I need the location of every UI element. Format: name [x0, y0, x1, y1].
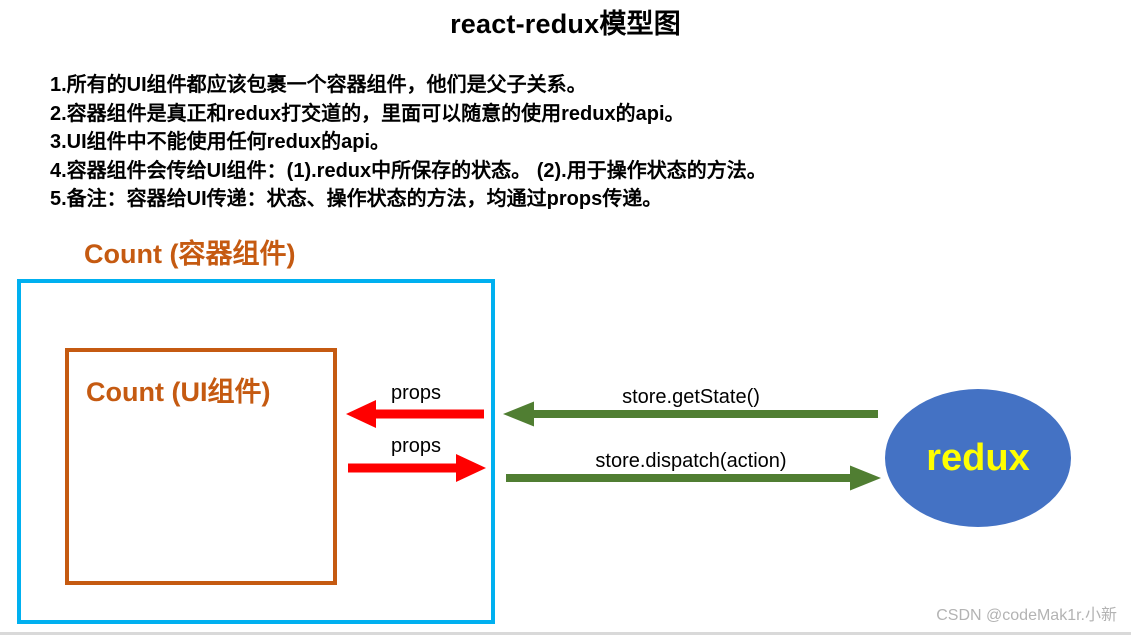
redux-store-ellipse: redux	[885, 389, 1071, 527]
note-line-3: 3.UI组件中不能使用任何redux的api。	[50, 128, 940, 157]
get-state-arrow-label: store.getState()	[503, 386, 879, 409]
notes-list: 1.所有的UI组件都应该包裹一个容器组件，他们是父子关系。 2.容器组件是真正和…	[50, 71, 940, 214]
note-line-1: 1.所有的UI组件都应该包裹一个容器组件，他们是父子关系。	[50, 71, 940, 100]
dispatch-arrow-label: store.dispatch(action)	[503, 450, 879, 473]
page-title: react-redux模型图	[0, 2, 1131, 41]
csdn-watermark: CSDN @codeMak1r.小新	[936, 601, 1117, 625]
props-in-arrow-label: props	[347, 382, 485, 405]
ui-component-label: Count (UI组件)	[86, 370, 270, 409]
note-line-2: 2.容器组件是真正和redux打交道的，里面可以随意的使用redux的api。	[50, 100, 940, 129]
container-component-label: Count (容器组件)	[84, 232, 295, 271]
props-out-arrow-label: props	[347, 435, 485, 458]
redux-store-label: redux	[926, 439, 1029, 477]
note-line-4: 4.容器组件会传给UI组件：(1).redux中所保存的状态。 (2).用于操作…	[50, 157, 940, 186]
note-line-5: 5.备注：容器给UI传递：状态、操作状态的方法，均通过props传递。	[50, 185, 940, 214]
